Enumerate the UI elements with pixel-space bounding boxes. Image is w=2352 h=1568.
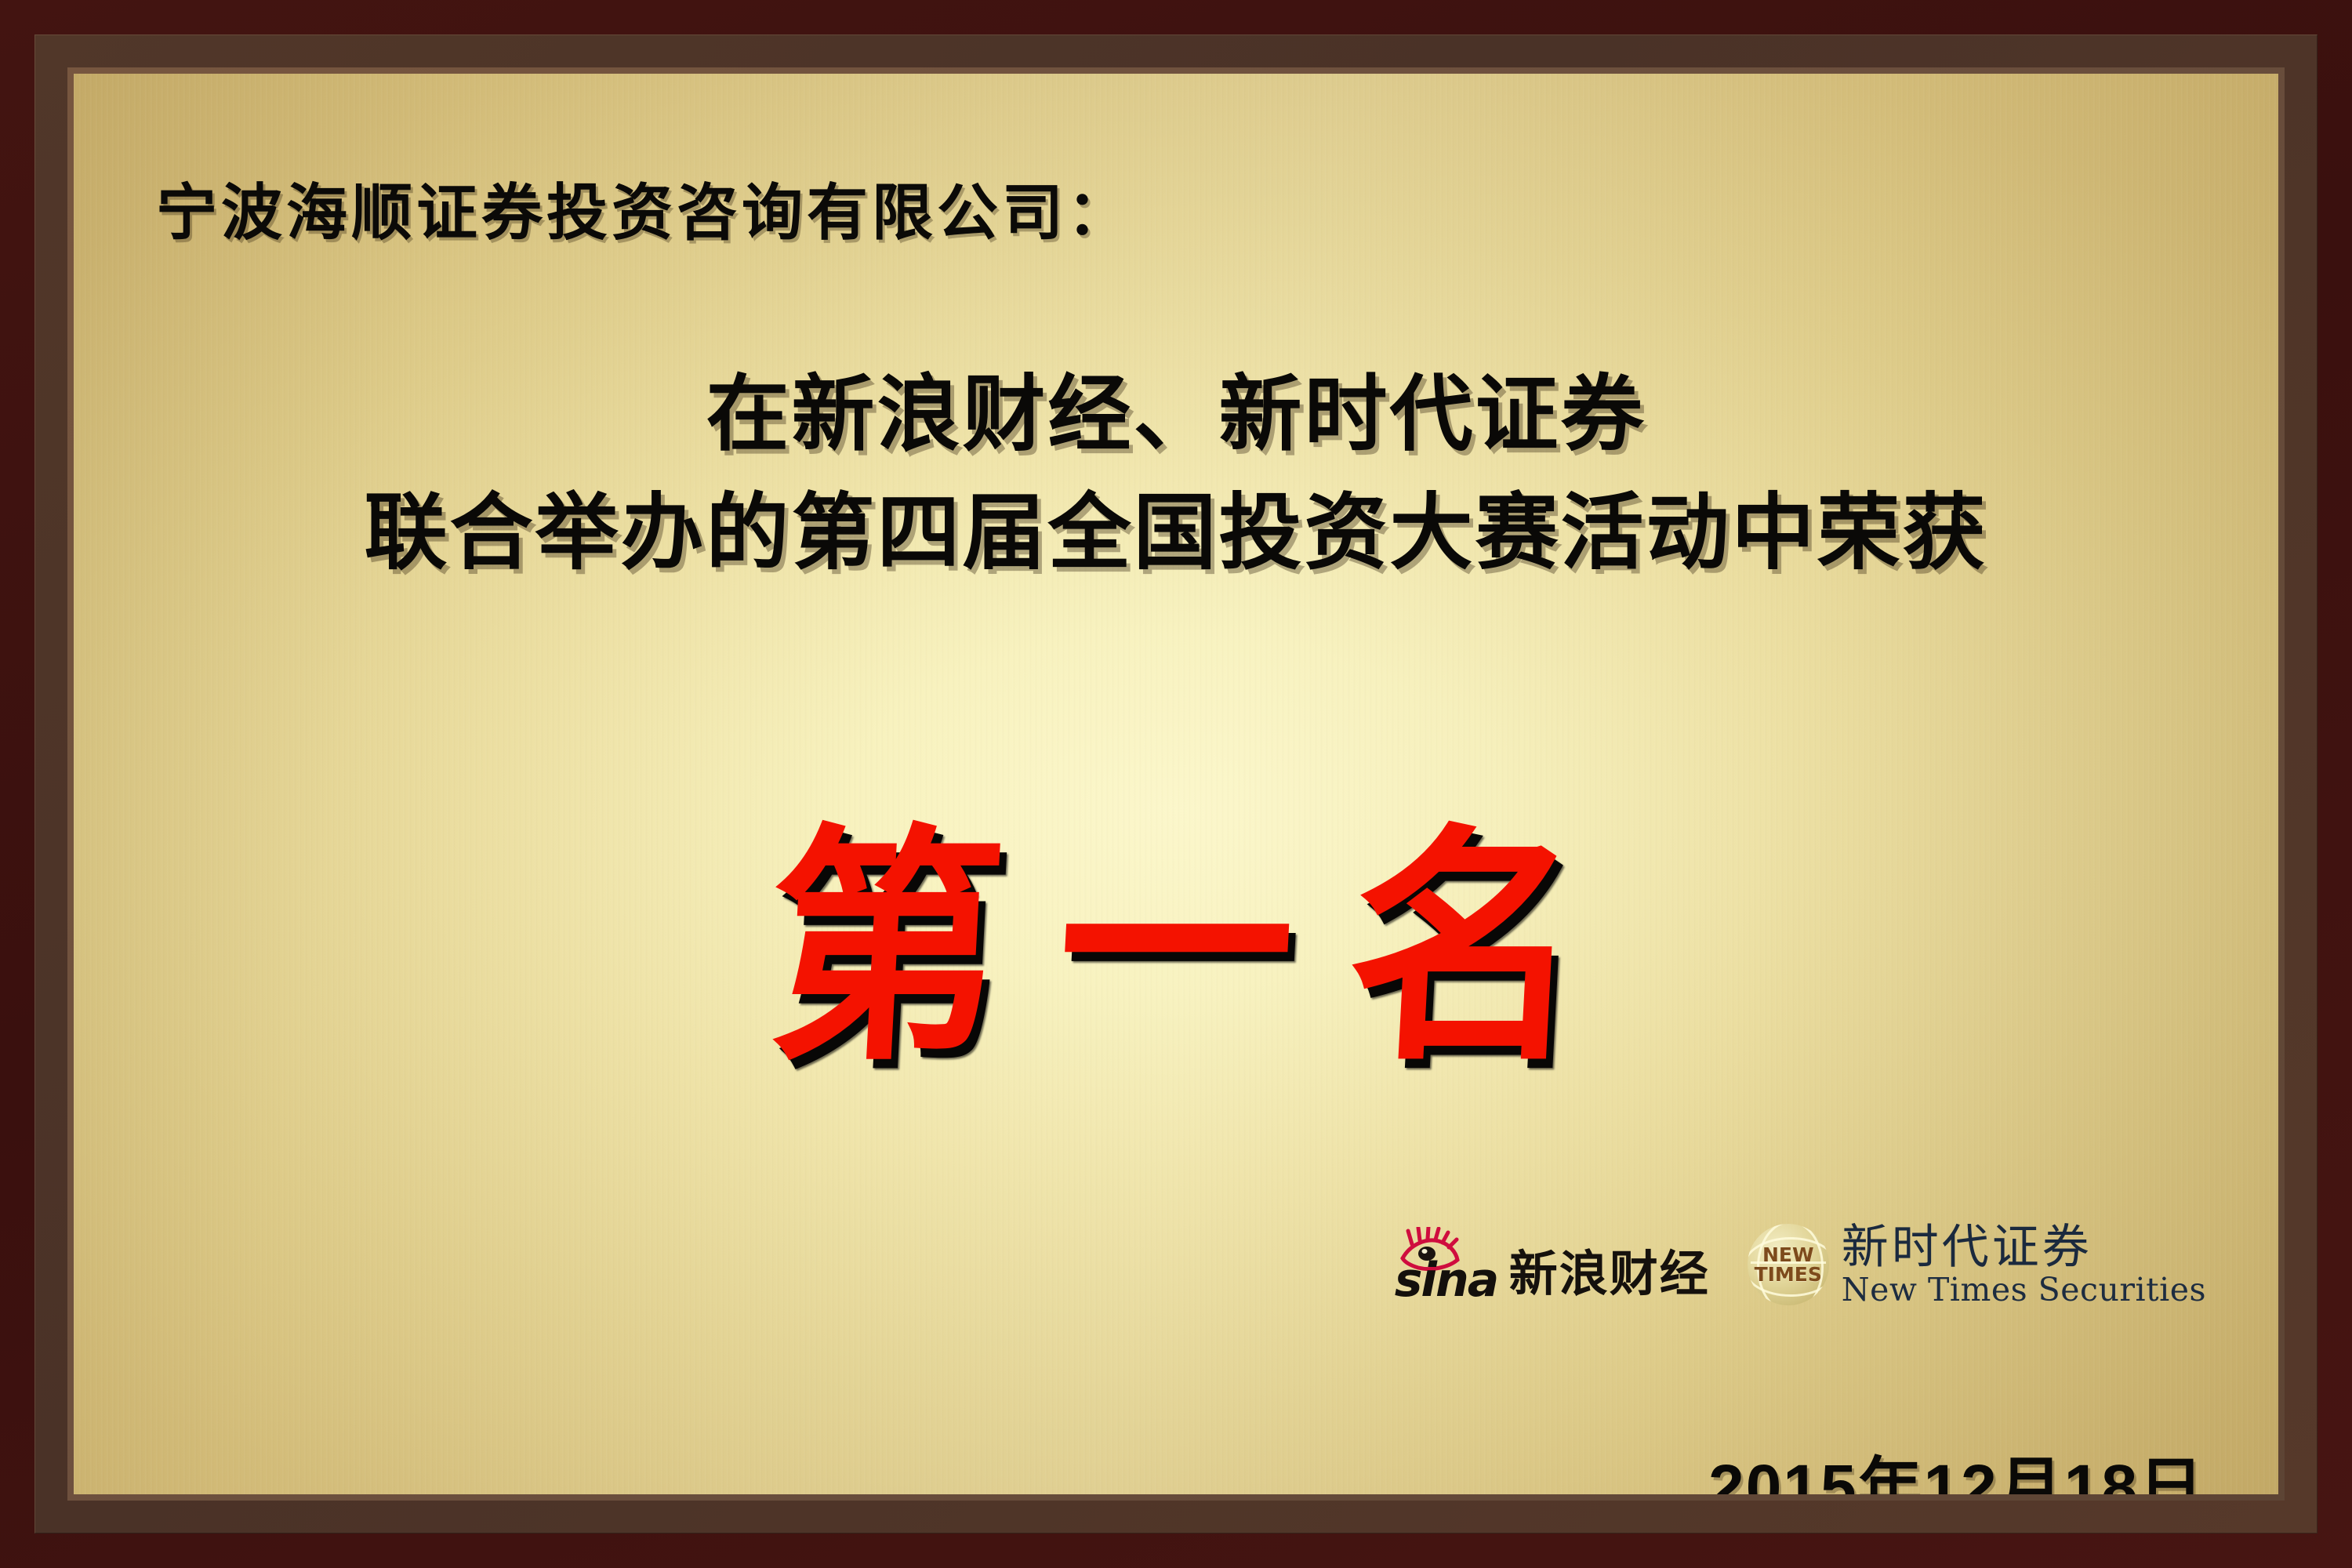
award-plaque: 宁波海顺证券投资咨询有限公司： 在新浪财经、新时代证券 联合举办的第四届全国投资… xyxy=(0,0,2352,1568)
plaque-frame-middle: 宁波海顺证券投资咨询有限公司： 在新浪财经、新时代证券 联合举办的第四届全国投资… xyxy=(34,34,2318,1534)
new-times-name-block: 新时代证券 New Times Securities xyxy=(1842,1222,2206,1307)
award-title-area: 第一名 xyxy=(74,818,2278,1077)
plaque-content: 宁波海顺证券投资咨询有限公司： 在新浪财经、新时代证券 联合举办的第四届全国投资… xyxy=(74,74,2278,1494)
new-times-name-cn: 新时代证券 xyxy=(1842,1222,2206,1272)
new-times-name-en: New Times Securities xyxy=(1842,1273,2206,1307)
gold-panel: 宁波海顺证券投资咨询有限公司： 在新浪财经、新时代证券 联合举办的第四届全国投资… xyxy=(74,74,2278,1494)
logo-new-times-securities: NEW TIMES 新时代证券 New Times Securities xyxy=(1748,1222,2206,1307)
plaque-frame-edge: 宁波海顺证券投资咨询有限公司： 在新浪财经、新时代证券 联合举办的第四届全国投资… xyxy=(67,67,2285,1501)
new-times-logo-mark: NEW TIMES xyxy=(1748,1224,1829,1305)
sina-name-cn: 新浪财经 xyxy=(1509,1250,1710,1302)
citation-line-1: 在新浪财经、新时代证券 xyxy=(74,356,2278,474)
new-times-mark-line-1: NEW xyxy=(1762,1245,1814,1265)
sina-logo-mark: sina xyxy=(1395,1227,1498,1302)
citation-line-2: 联合举办的第四届全国投资大赛活动中荣获 xyxy=(74,474,2278,593)
citation-body: 在新浪财经、新时代证券 联合举办的第四届全国投资大赛活动中荣获 xyxy=(74,356,2278,592)
issue-date: 2015年12月18日 xyxy=(1708,1435,2205,1494)
new-times-mark-text: NEW TIMES xyxy=(1748,1224,1829,1305)
new-times-mark-line-2: TIMES xyxy=(1755,1265,1822,1284)
addressee-line: 宁波海顺证券投资咨询有限公司： xyxy=(156,164,1132,252)
sina-wordmark: sina xyxy=(1395,1257,1497,1304)
sponsor-logos: sina 新浪财经 NEW TIMES xyxy=(1395,1222,2206,1307)
award-rank-title: 第一名 xyxy=(706,811,1646,1085)
logo-sina-finance: sina 新浪财经 xyxy=(1395,1227,1710,1302)
